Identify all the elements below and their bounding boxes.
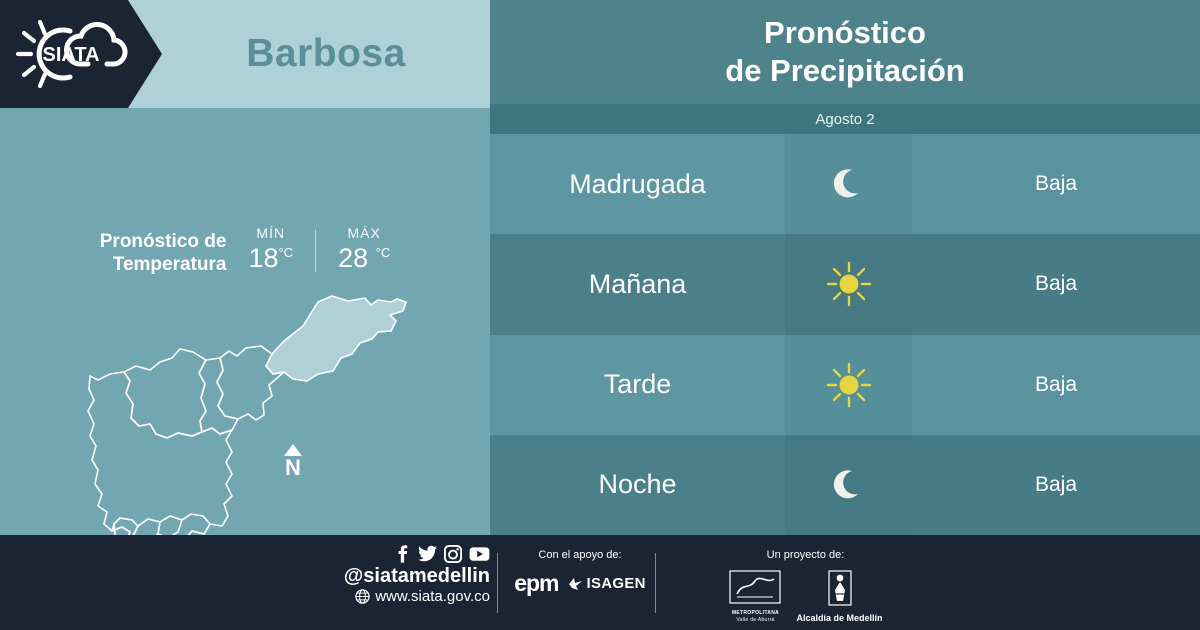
cell-period: Noche: [490, 435, 785, 535]
amva-mark-icon: [729, 570, 781, 604]
cell-probability: Baja: [912, 335, 1200, 435]
temperature-title-line2: Temperatura: [100, 253, 227, 276]
temperature-min: MÍN 18°C: [248, 226, 293, 272]
amva-line2: Valle de Aburrá: [728, 617, 782, 623]
sun-icon: [825, 260, 873, 308]
project-block: Un proyecto de: METROPOLITANA Valle de A…: [718, 549, 893, 623]
temperature-forecast: Pronóstico de Temperatura MÍN 18°C MÁX 2…: [0, 226, 490, 288]
compass-label: N: [285, 457, 301, 479]
sun-icon: [825, 361, 873, 409]
facebook-icon[interactable]: [394, 545, 411, 563]
period-label: Tarde: [604, 369, 672, 400]
cell-probability: Baja: [912, 234, 1200, 334]
globe-icon: [355, 589, 370, 604]
cell-icon: [785, 234, 912, 334]
period-label: Noche: [598, 469, 676, 500]
project-logos: METROPOLITANA Valle de Aburrá Alcaldía d…: [718, 570, 893, 623]
cell-icon: [785, 134, 912, 234]
temperature-max: MÁX 28 °C: [338, 226, 390, 272]
period-label: Mañana: [589, 269, 687, 300]
project-caption: Un proyecto de:: [718, 549, 893, 561]
precipitation-title: Pronóstico de Precipitación: [725, 14, 964, 90]
footer: @siatamedellin www.siata.gov.co Con el a…: [0, 535, 1200, 630]
probability-label: Baja: [1035, 473, 1077, 497]
precipitation-table: Madrugada Baja Mañana: [490, 134, 1200, 535]
website-url: www.siata.gov.co: [375, 588, 490, 605]
precipitation-title-line2: de Precipitación: [725, 52, 964, 90]
social-handle[interactable]: @siatamedellin: [344, 565, 490, 588]
precipitation-panel: Pronóstico de Precipitación Agosto 2 Mad…: [490, 0, 1200, 535]
precipitation-header: Pronóstico de Precipitación: [490, 0, 1200, 104]
twitter-icon[interactable]: [418, 545, 437, 563]
map-region-barbosa: [266, 296, 406, 381]
cell-icon: [785, 435, 912, 535]
isagen-mark-icon: [568, 577, 583, 591]
siata-logo-text: SIATA: [42, 44, 99, 66]
cell-probability: Baja: [912, 435, 1200, 535]
moon-icon: [828, 464, 870, 506]
table-row: Madrugada Baja: [490, 134, 1200, 234]
cell-period: Tarde: [490, 335, 785, 435]
support-block: Con el apoyo de: epm ISAGEN: [505, 549, 655, 597]
table-row: Noche Baja: [490, 435, 1200, 535]
amva-logo: METROPOLITANA Valle de Aburrá: [728, 570, 782, 623]
youtube-icon[interactable]: [469, 546, 490, 562]
epm-logo: epm: [514, 570, 558, 597]
left-panel: Pronóstico de Temperatura MÍN 18°C MÁX 2…: [0, 108, 490, 535]
alcaldia-label: Alcaldía de Medellín: [796, 613, 882, 623]
forecast-date: Agosto 2: [815, 111, 874, 128]
period-label: Madrugada: [569, 169, 706, 200]
moon-icon: [828, 163, 870, 205]
alcaldia-logo: Alcaldía de Medellín: [796, 570, 882, 623]
temperature-divider: [315, 230, 316, 272]
temperature-title-line1: Pronóstico de: [100, 230, 227, 253]
probability-label: Baja: [1035, 172, 1077, 196]
min-value-wrap: 18°C: [248, 245, 293, 272]
probability-label: Baja: [1035, 272, 1077, 296]
cell-icon: [785, 335, 912, 435]
support-logos: epm ISAGEN: [505, 570, 655, 597]
left-header: SIATA Barbosa: [0, 0, 490, 108]
max-value: 28: [338, 243, 368, 273]
footer-divider-1: [497, 553, 498, 613]
probability-label: Baja: [1035, 373, 1077, 397]
max-label: MÁX: [338, 226, 390, 240]
min-label: MÍN: [248, 226, 293, 240]
table-row: Mañana: [490, 234, 1200, 334]
min-value: 18: [248, 243, 278, 273]
temperature-title: Pronóstico de Temperatura: [100, 226, 227, 276]
footer-divider-2: [655, 553, 656, 613]
cell-period: Mañana: [490, 234, 785, 334]
isagen-text: ISAGEN: [586, 575, 645, 592]
siata-badge: SIATA: [0, 0, 162, 108]
sun-cloud-icon: SIATA: [14, 14, 132, 94]
website-row[interactable]: www.siata.gov.co: [355, 588, 490, 605]
isagen-logo: ISAGEN: [568, 575, 645, 592]
alcaldia-mark-icon: [823, 570, 857, 608]
social-block: @siatamedellin www.siata.gov.co: [300, 545, 490, 605]
table-row: Tarde: [490, 335, 1200, 435]
compass-north: N: [275, 444, 311, 488]
cell-probability: Baja: [912, 134, 1200, 234]
max-unit: °C: [376, 245, 391, 260]
cell-period: Madrugada: [490, 134, 785, 234]
max-value-wrap: 28 °C: [338, 245, 390, 272]
infographic-canvas: SIATA Barbosa Pronóstico de Temperatura …: [0, 0, 1200, 630]
date-band: Agosto 2: [490, 104, 1200, 134]
social-icons: [394, 545, 490, 563]
precipitation-title-line1: Pronóstico: [725, 14, 964, 52]
min-unit: °C: [278, 245, 293, 260]
city-name: Barbosa: [162, 0, 490, 108]
support-caption: Con el apoyo de:: [505, 549, 655, 561]
amva-line1: METROPOLITANA: [728, 610, 782, 616]
instagram-icon[interactable]: [444, 545, 462, 563]
